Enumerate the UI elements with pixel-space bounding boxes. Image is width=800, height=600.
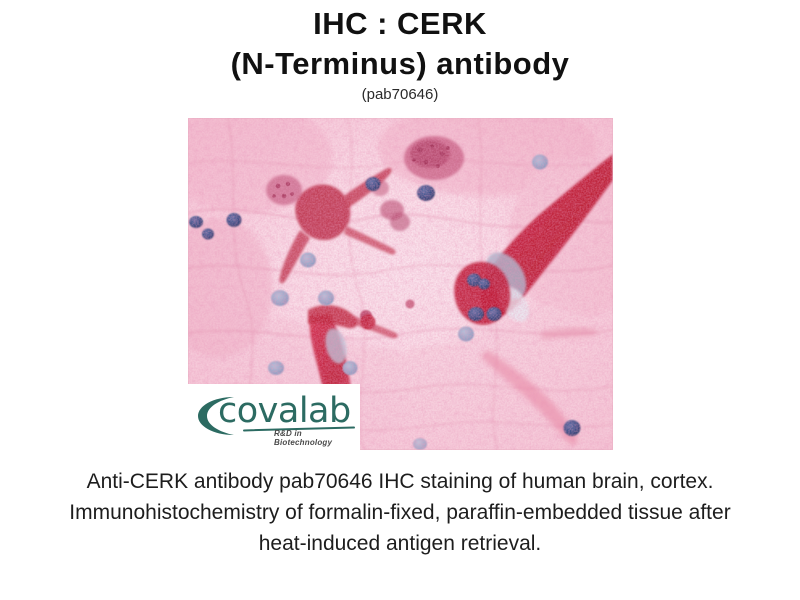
covalab-logo: covalab R&D in Biotechnology (188, 384, 360, 450)
title-line-primary: IHC : CERK (0, 4, 800, 44)
covalab-wordmark: covalab (218, 391, 351, 431)
page-title: IHC : CERK (N-Terminus) antibody (pab706… (0, 0, 800, 105)
catalog-number: (pab70646) (0, 85, 800, 105)
title-line-secondary: (N-Terminus) antibody (0, 44, 800, 84)
covalab-tagline: R&D in Biotechnology (274, 429, 360, 447)
figure-caption: Anti-CERK antibody pab70646 IHC staining… (60, 466, 740, 559)
figure-container: covalab R&D in Biotechnology (188, 118, 613, 450)
